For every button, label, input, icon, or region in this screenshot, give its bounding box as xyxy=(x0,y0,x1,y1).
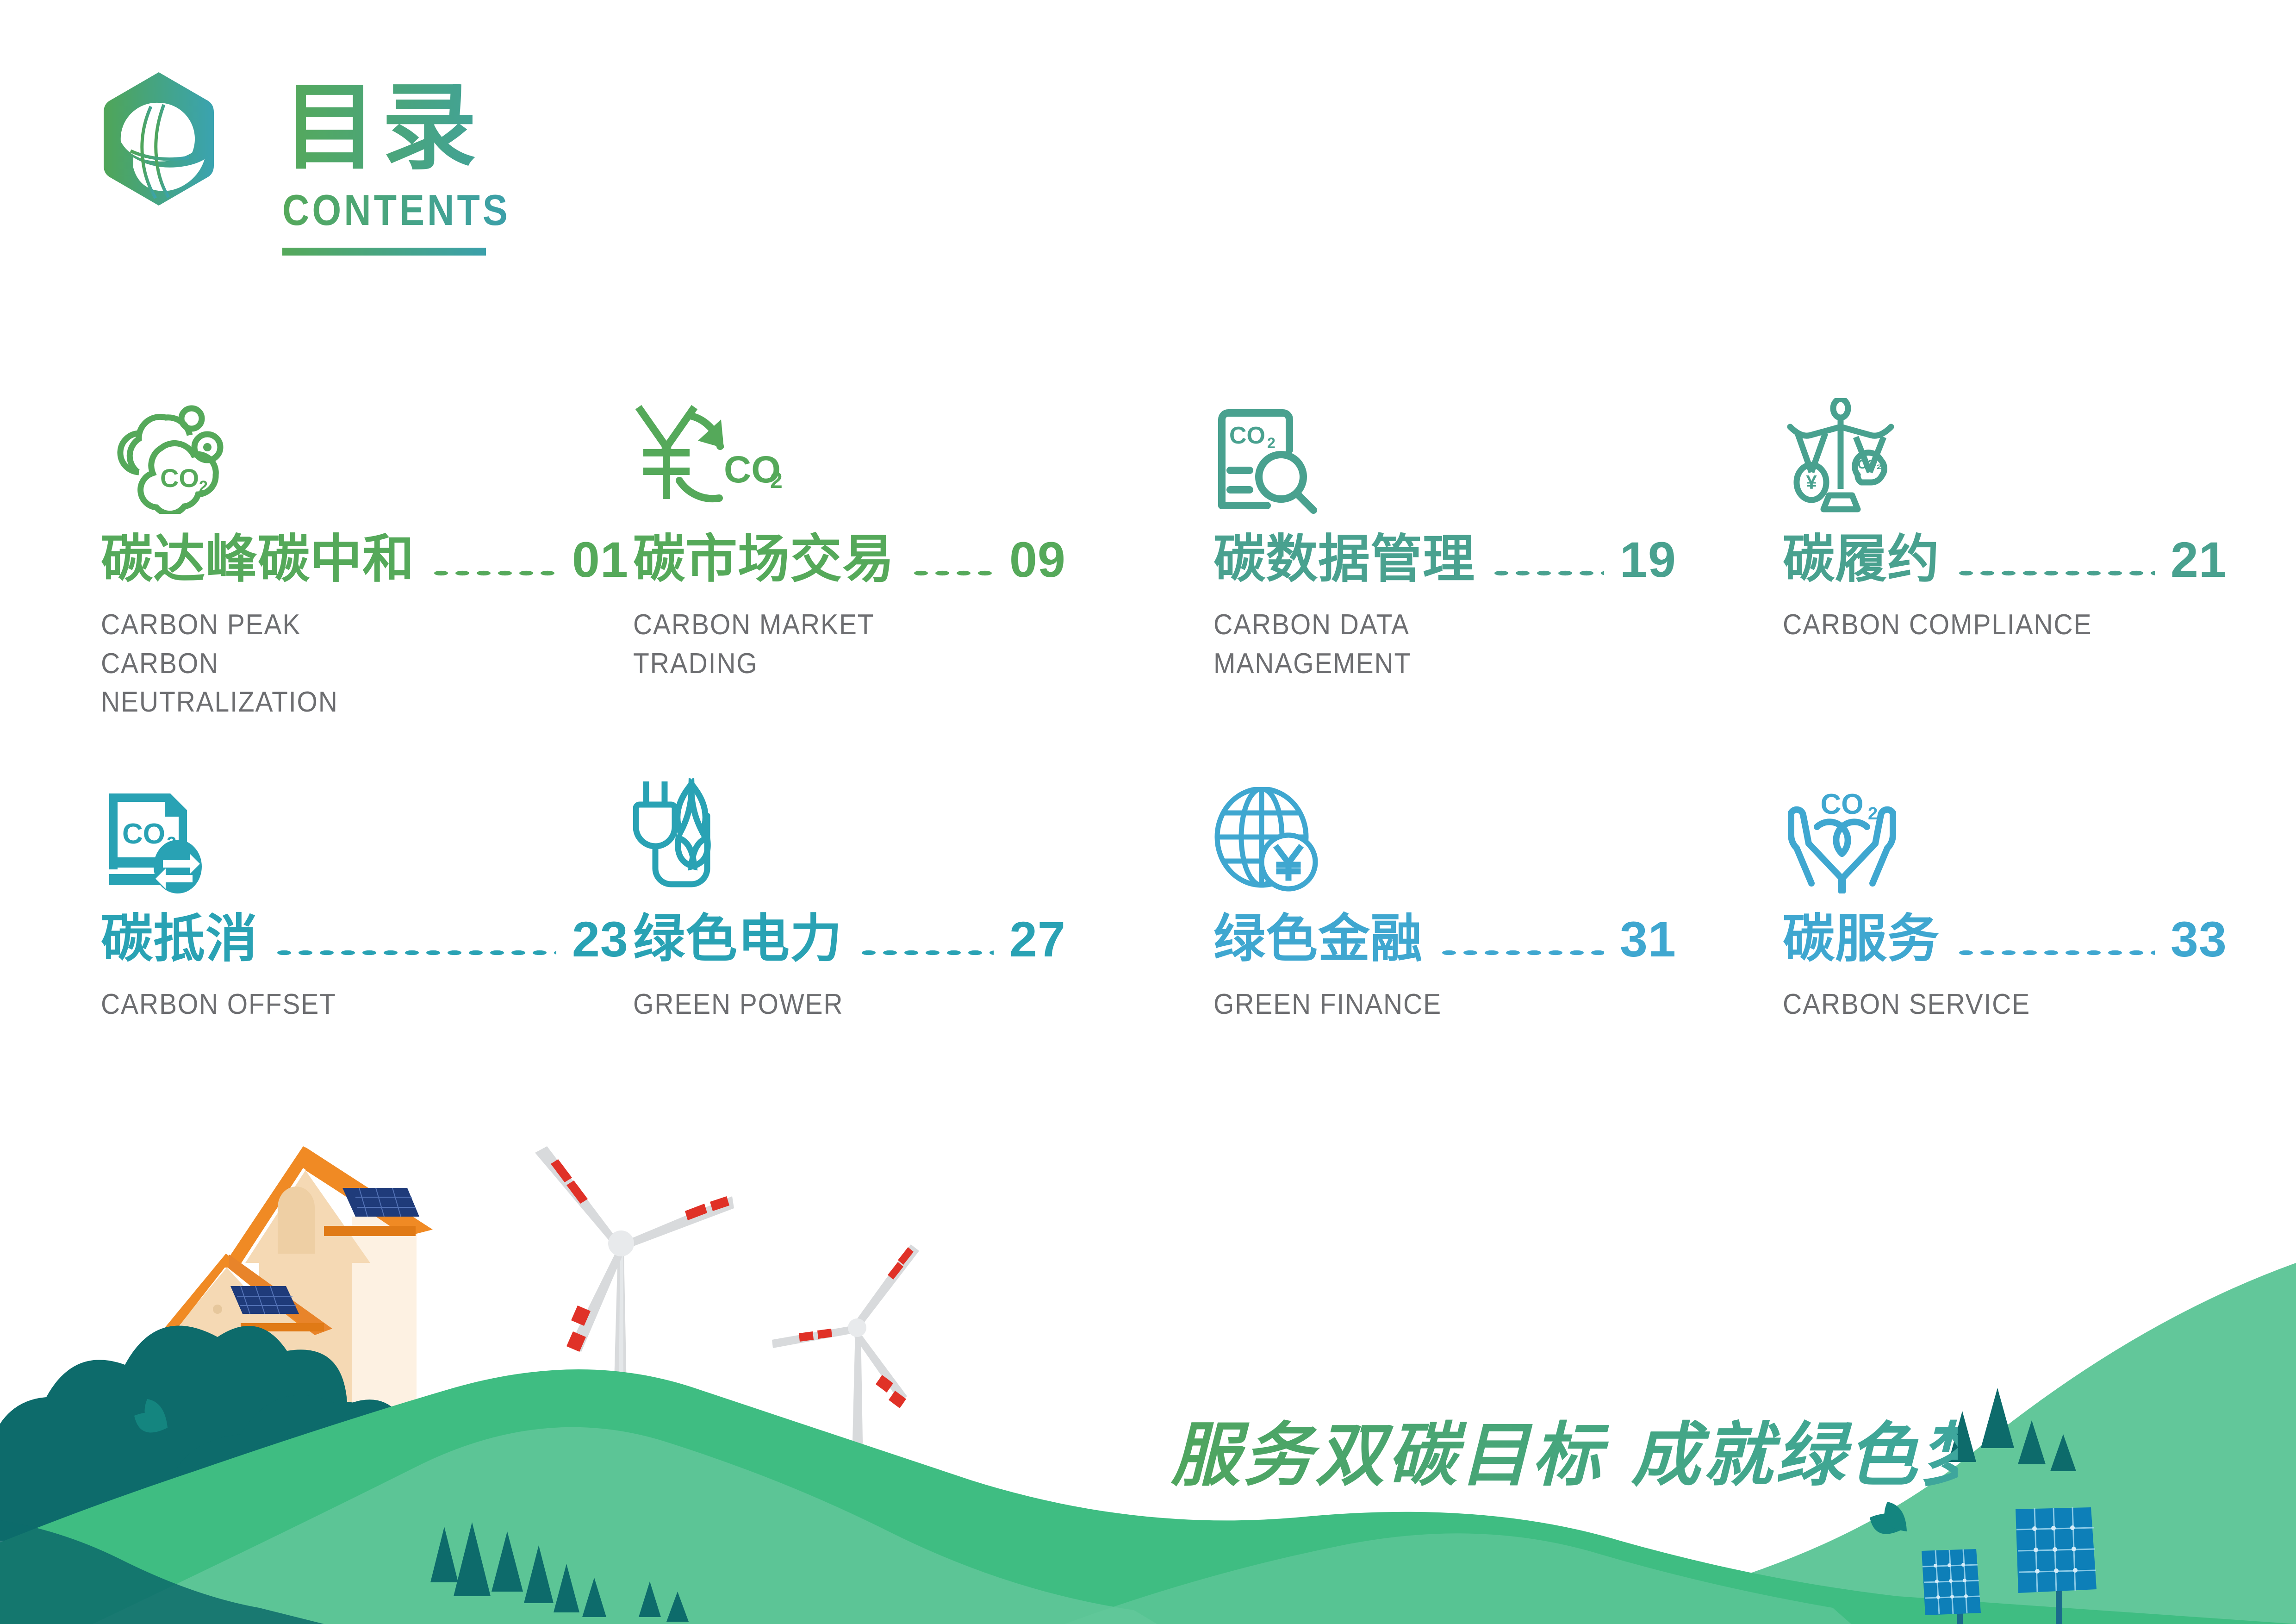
toc-item-6[interactable]: 绿色电力 27 GREEN POWER xyxy=(633,768,1066,1024)
toc-entry-line: 绿色金融 31 xyxy=(1213,913,1676,967)
toc-item-2[interactable]: CO 2 碳市场交易 09 CARBON MARKET TRADING xyxy=(633,389,1066,683)
toc-page-number: 01 xyxy=(572,535,628,585)
page-subtitle: CONTENTS xyxy=(282,188,510,232)
toc-item-5[interactable]: CO 2 碳抵消 23 CARBON OFFSET xyxy=(101,768,628,1024)
toc-entry-line: 碳履约 21 xyxy=(1783,533,2227,587)
svg-text:CO: CO xyxy=(122,818,165,850)
title-underline xyxy=(282,248,486,256)
toc-item-8[interactable]: CO 2 碳服务 33 CARBON SERVICE xyxy=(1783,768,2227,1024)
svg-text:2: 2 xyxy=(199,478,208,495)
toc-title-en: CARBON DATA MANAGEMENT xyxy=(1213,606,1639,683)
toc-page-number: 21 xyxy=(2171,535,2227,585)
plug-leaf-icon xyxy=(633,768,1066,893)
toc-title-cn: 碳达峰碳中和 xyxy=(101,533,415,585)
toc-title-cn: 碳服务 xyxy=(1783,913,1940,965)
contents-page: 目录 CONTENTS CO 2 碳达峰碳中和 xyxy=(0,0,2296,1624)
svg-text:¥: ¥ xyxy=(1806,471,1817,493)
svg-text:CO: CO xyxy=(1821,788,1864,820)
toc-page-number: 23 xyxy=(572,914,628,964)
svg-text:2: 2 xyxy=(1267,435,1276,451)
toc-entry-line: 碳达峰碳中和 01 xyxy=(101,533,628,587)
toc-entry-line: 绿色电力 27 xyxy=(633,913,1066,967)
co2-document-search-icon: CO 2 xyxy=(1213,389,1676,514)
toc-item-7[interactable]: 绿色金融 31 GREEN FINANCE xyxy=(1213,768,1676,1024)
footer-tagline: 服务双碳目标 成就绿色梦想 xyxy=(1171,1405,1958,1512)
toc-entry-line: 碳服务 33 xyxy=(1783,913,2227,967)
toc-title-en: CARBON PEAK CARBON NEUTRALIZATION xyxy=(101,606,586,722)
toc-entry-line: 碳市场交易 09 xyxy=(633,533,1066,587)
toc-title-cn: 碳市场交易 xyxy=(633,533,895,585)
toc-page-number: 31 xyxy=(1620,914,1676,964)
toc-item-3[interactable]: CO 2 碳数据管理 19 CARBON DATA MANAGEMENT xyxy=(1213,389,1676,683)
toc-title-en: CARBON COMPLIANCE xyxy=(1783,606,2191,644)
svg-text:2: 2 xyxy=(1868,804,1878,824)
dotted-leader xyxy=(1438,949,1604,956)
toc-entry-line: 碳数据管理 19 xyxy=(1213,533,1676,587)
toc-title-en: CARBON OFFSET xyxy=(101,985,586,1024)
globe-yuan-icon xyxy=(1213,768,1676,893)
toc-title-en: GREEN FINANCE xyxy=(1213,985,1639,1024)
balance-scale-icon: ¥ CO₂ xyxy=(1783,389,2227,514)
toc-item-1[interactable]: CO 2 碳达峰碳中和 01 CARBON PEAK CARBON NEUTRA… xyxy=(101,389,628,722)
toc-entry-line: 碳抵消 23 xyxy=(101,913,628,967)
svg-text:CO: CO xyxy=(1229,422,1265,449)
svg-text:CO₂: CO₂ xyxy=(1858,457,1882,471)
toc-title-cn: 绿色金融 xyxy=(1213,913,1423,965)
hexagon-globe-logo-icon xyxy=(101,69,217,208)
dotted-leader xyxy=(910,569,994,577)
toc-page-number: 33 xyxy=(2171,914,2227,964)
dotted-leader xyxy=(1955,569,2155,577)
svg-text:CO: CO xyxy=(160,463,199,493)
toc-title-en: CARBON SERVICE xyxy=(1783,985,2191,1024)
svg-text:2: 2 xyxy=(770,468,783,493)
co2-document-exchange-icon: CO 2 xyxy=(101,768,628,893)
dotted-leader xyxy=(430,569,556,577)
toc-page-number: 19 xyxy=(1620,535,1676,585)
toc-title-cn: 绿色电力 xyxy=(633,913,842,965)
yuan-co2-exchange-icon: CO 2 xyxy=(633,389,1066,514)
dotted-leader xyxy=(858,949,994,956)
co2-cloud-icon: CO 2 xyxy=(101,389,628,514)
toc-title-cn: 碳履约 xyxy=(1783,533,1940,585)
svg-text:服务双碳目标 成就绿色梦想: 服务双碳目标 成就绿色梦想 xyxy=(1171,1415,1958,1496)
hands-co2-icon: CO 2 xyxy=(1783,768,2227,893)
toc-title-cn: 碳数据管理 xyxy=(1213,533,1475,585)
dotted-leader xyxy=(274,949,556,956)
page-title: 目录 xyxy=(282,81,548,175)
toc-title-en: GREEN POWER xyxy=(633,985,1031,1024)
toc-page-number: 09 xyxy=(1009,535,1066,585)
toc-item-4[interactable]: ¥ CO₂ 碳履约 21 CARBON COMPLIANCE xyxy=(1783,389,2227,644)
solar-panel-roof-upper xyxy=(342,1188,419,1217)
dotted-leader xyxy=(1491,569,1604,577)
page-header: 目录 CONTENTS xyxy=(101,69,548,256)
toc-title-en: CARBON MARKET TRADING xyxy=(633,606,1031,683)
toc-page-number: 27 xyxy=(1009,914,1066,964)
toc-title-cn: 碳抵消 xyxy=(101,913,258,965)
landscape-illustration xyxy=(0,1064,2296,1624)
dotted-leader xyxy=(1955,949,2155,956)
